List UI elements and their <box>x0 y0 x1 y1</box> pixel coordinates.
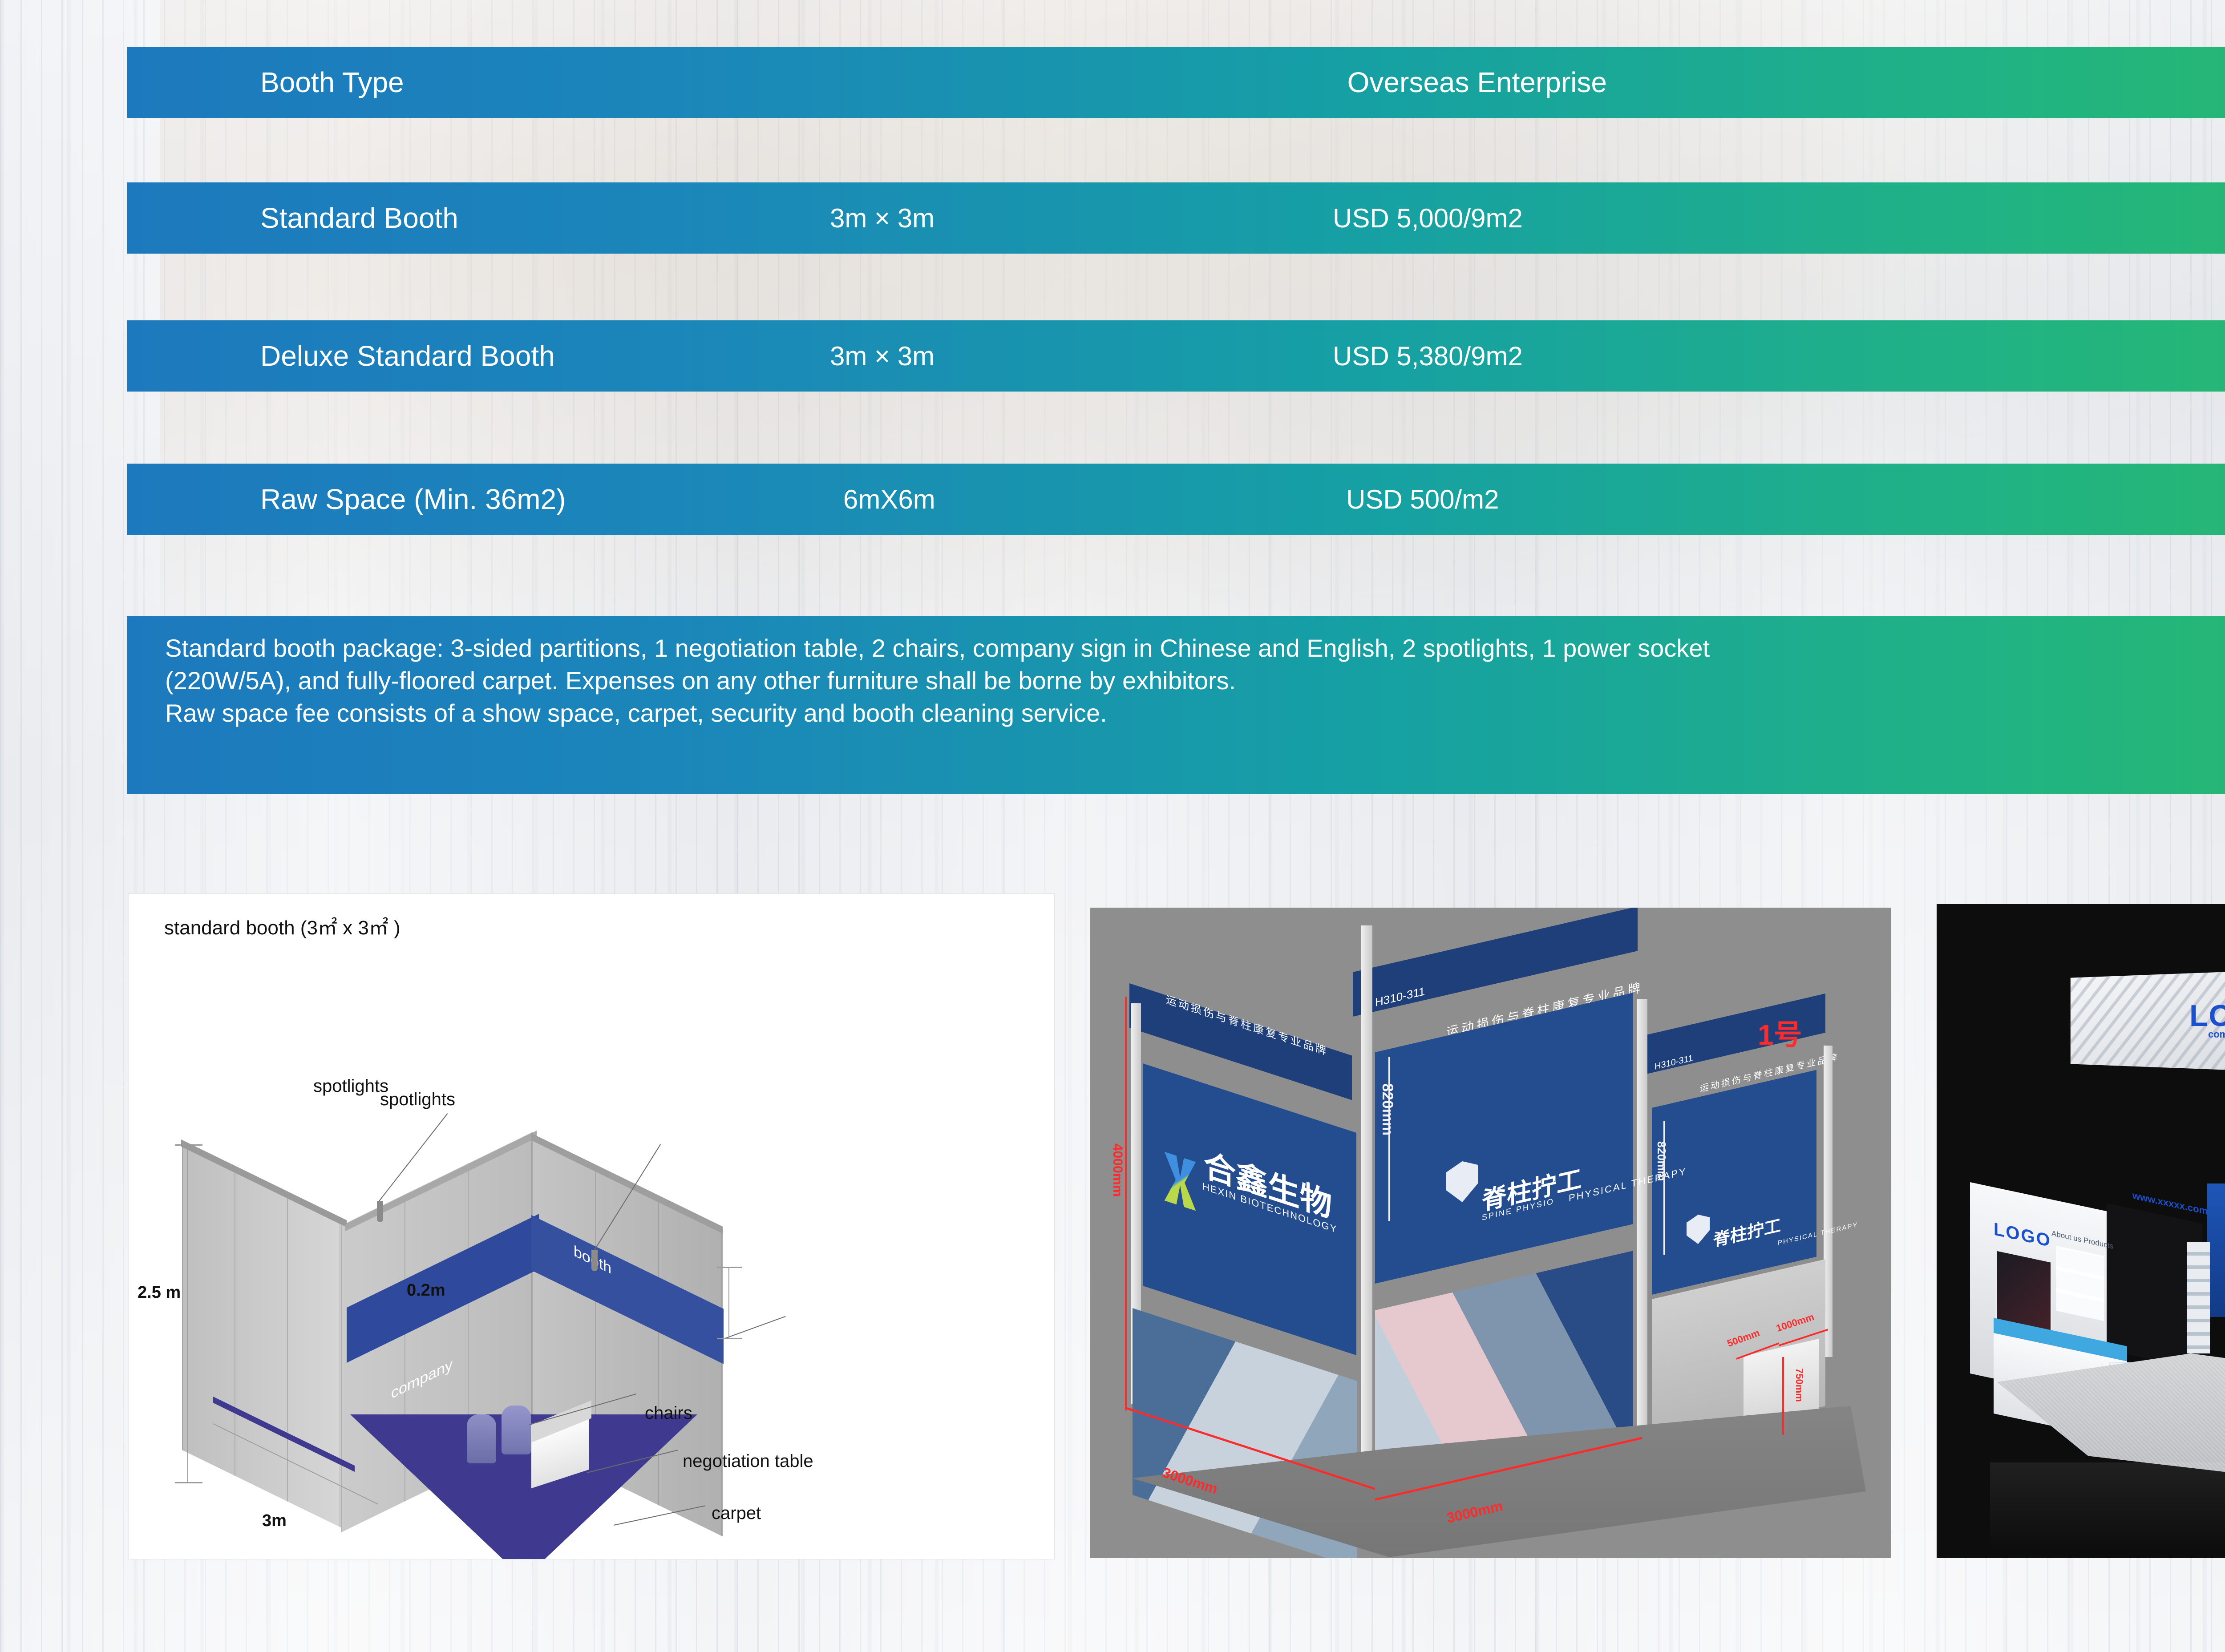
dim-fascia-height-right: 820mm <box>1655 1141 1668 1181</box>
brand-board-right <box>1652 1070 1816 1295</box>
note-line-3: Raw space fee consists of a show space, … <box>165 697 2225 730</box>
dim-booth-height: 4000mm <box>1110 1143 1125 1197</box>
label-floor-width: 3m <box>262 1511 287 1531</box>
dim-height-cap-top <box>175 1144 202 1146</box>
row-booth-price: USD 5,380/9m2 <box>1333 341 1523 372</box>
booth-post-right <box>1637 999 1647 1453</box>
chair-2 <box>502 1406 531 1454</box>
dim-height-line <box>1125 997 1127 1410</box>
hanging-banner-subtitle: company name <box>2208 1029 2225 1040</box>
row-booth-size: 6mX6m <box>843 484 1288 515</box>
label-chairs: chairs <box>645 1403 692 1423</box>
row-booth-size: 3m × 3m <box>830 203 1275 234</box>
table-row[interactable]: Standard Booth 3m × 3m USD 5,000/9m2 <box>127 182 2225 254</box>
wall-product-grid <box>2056 1246 2104 1321</box>
row-booth-type: Standard Booth <box>260 202 830 234</box>
label-spotlights-left: spotlights <box>313 1076 388 1096</box>
row-booth-price: USD 500/m2 <box>1346 484 1499 515</box>
label-wall-height: 2.5 m <box>138 1283 181 1302</box>
dim-counter-height-line <box>1782 1357 1784 1435</box>
header-col-booth-type: Booth Type <box>260 66 404 99</box>
spotlight-1-icon <box>377 1201 383 1222</box>
figure1-title: standard booth (3㎡ x 3㎡ ) <box>164 912 400 940</box>
label-negotiation-table: negotiation table <box>683 1451 813 1471</box>
hanging-banner-logo: LOGO <box>2189 998 2225 1033</box>
dim-fascia-center-line <box>1388 1057 1390 1221</box>
row-booth-type: Deluxe Standard Booth <box>260 339 830 372</box>
figure-standard-booth-diagram: company booth standard booth (3㎡ x 3㎡ ) … <box>128 893 1055 1559</box>
booth-blue-accent-wall <box>2207 1183 2225 1317</box>
dim-band-cap-top <box>717 1267 742 1268</box>
booth-number-label: 1号 <box>1758 1012 1802 1053</box>
chair-1 <box>467 1414 496 1463</box>
spotlight-2-icon <box>591 1250 598 1271</box>
page-root: Booth Type Overseas Enterprise Standard … <box>0 0 2225 1652</box>
dim-height-cap-bottom <box>175 1482 202 1483</box>
row-booth-price: USD 5,000/9m2 <box>1333 203 1523 234</box>
figure-booth-photo-render: H310-311 运动损伤与脊柱康复专业品牌 运动损伤与脊柱康复专业品牌 H31… <box>1090 908 1891 1558</box>
dim-band-cap-bottom <box>717 1338 742 1339</box>
table-row[interactable]: Deluxe Standard Booth 3m × 3m USD 5,380/… <box>127 320 2225 392</box>
table-header-row: Booth Type Overseas Enterprise <box>127 47 2225 118</box>
booth-post-center <box>1361 925 1372 1517</box>
zigzag-brochure-rack <box>2187 1242 2210 1353</box>
table-row[interactable]: Raw Space (Min. 36m2) 6mX6m USD 500/m2 <box>127 464 2225 535</box>
dim-height-vertical <box>187 1145 188 1483</box>
brand-board-center <box>1375 993 1633 1284</box>
note-line-1: Standard booth package: 3-sided partitio… <box>165 632 2225 665</box>
label-carpet: carpet <box>712 1503 761 1523</box>
dim-fascia-height-left: 820mm <box>1379 1083 1396 1135</box>
row-booth-type: Raw Space (Min. 36m2) <box>260 483 830 516</box>
figure-premium-booth-render: LOGO company name LOGO www.xxxxx.com LOG… <box>1937 904 2225 1558</box>
leader-band-height <box>723 1316 786 1340</box>
dim-counter-height: 750mm <box>1793 1368 1805 1402</box>
floor-reflection <box>1990 1462 2225 1551</box>
header-col-overseas-enterprise: Overseas Enterprise <box>1347 66 1607 99</box>
row-booth-size: 3m × 3m <box>830 341 1275 372</box>
booth-left-wall-panel-lines <box>182 1143 342 1528</box>
label-band-height: 0.2m <box>407 1281 445 1300</box>
dim-band-vertical <box>728 1268 729 1339</box>
booth-package-note: Standard booth package: 3-sided partitio… <box>127 616 2225 794</box>
label-spotlights-right: spotlights <box>380 1090 455 1110</box>
note-line-2: (220W/5A), and fully-floored carpet. Exp… <box>165 665 2225 697</box>
